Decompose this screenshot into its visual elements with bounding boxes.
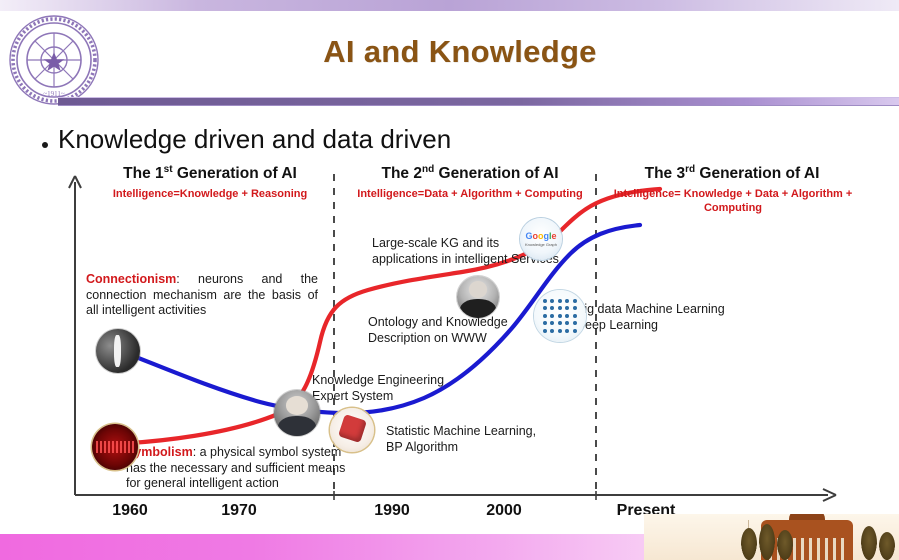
bullet-line: Knowledge driven and data driven (42, 124, 451, 155)
tsinghua-seal-logo: ~1911~ (8, 14, 100, 106)
x-tick-label-1970: 1970 (207, 502, 271, 520)
slide-canvas: ~1911~ AI and Knowledge Knowledge driven… (0, 0, 899, 560)
bullet-label: Knowledge driven and data driven (58, 124, 451, 155)
note-symbolism: Symbolism: a physical symbol system has … (126, 445, 362, 492)
note-ontology-www: Ontology and Knowledge Description on WW… (368, 315, 558, 346)
generation-2-heading: The 2nd Generation of AI (350, 164, 590, 183)
dice-icon (330, 408, 374, 452)
x-tick-label-1960: 1960 (98, 502, 162, 520)
x-tick-label-1990: 1990 (360, 502, 424, 520)
generation-3-heading: The 3rd Generation of AI (612, 164, 852, 183)
ontology-portrait-icon (457, 276, 499, 318)
page-title: AI and Knowledge (150, 34, 770, 70)
google-kg-sublabel: Knowledge Graph (525, 242, 557, 247)
note-big-data-deep-learning: Big data Machine Learning Deep Learning (576, 302, 776, 333)
campus-tree (759, 524, 775, 560)
note-large-scale-kg: Large-scale KG and its applications in i… (372, 236, 602, 267)
top-decorative-bar (0, 0, 899, 11)
google-knowledge-graph-icon: Google Knowledge Graph (520, 218, 562, 260)
y-axis (69, 176, 81, 495)
note-connectionism: Connectionism: neurons and the connectio… (86, 272, 318, 319)
bullet-dot-icon (42, 142, 48, 148)
neural-network-dots (541, 297, 578, 334)
ai-generations-timeline-chart: The 1st Generation of AI Intelligence=Kn… (0, 162, 899, 520)
campus-tree (861, 526, 877, 560)
campus-tree (777, 530, 793, 560)
brain-icon (96, 329, 140, 373)
campus-tree (741, 528, 757, 560)
generation-1-subtitle: Intelligence=Knowledge + Reasoning (82, 188, 338, 202)
note-statistic-machine-learning: Statistic Machine Learning, BP Algorithm (386, 424, 596, 455)
x-tick-label-2000: 2000 (472, 502, 536, 520)
neural-network-icon (534, 290, 586, 342)
note-connectionism-keyword: Connectionism (86, 272, 176, 286)
generation-1-heading: The 1st Generation of AI (90, 164, 330, 183)
campus-building-photo (644, 514, 899, 560)
generation-3-subtitle: Intelligence= Knowledge + Data + Algorit… (608, 188, 858, 216)
title-underline-rule (58, 97, 899, 106)
note-knowledge-engineering: Knowledge Engineering Expert System (312, 373, 512, 404)
expert-system-portrait-icon (274, 390, 320, 436)
campus-tree (879, 532, 895, 560)
generation-2-subtitle: Intelligence=Data + Algorithm + Computin… (340, 188, 600, 202)
google-wordmark: Google (525, 232, 556, 241)
symbolism-icon (92, 424, 138, 470)
